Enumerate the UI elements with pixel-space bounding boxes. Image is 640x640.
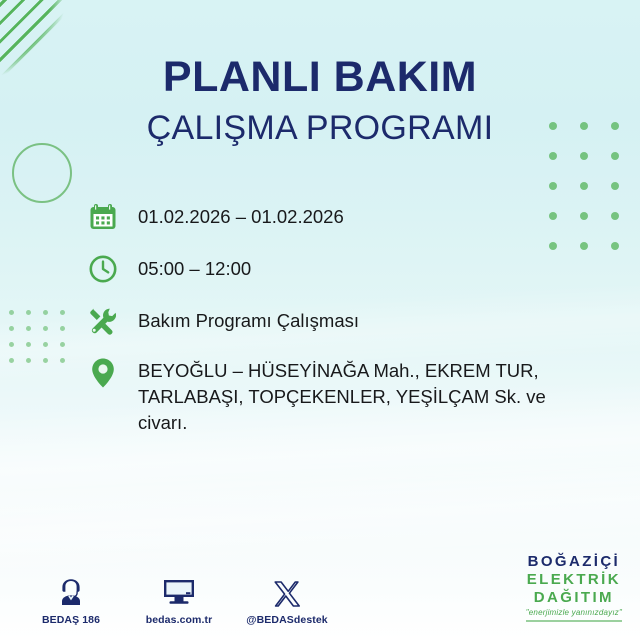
- contact-channels: BEDAŞ 186 bedas.com.tr: [28, 572, 330, 626]
- contact-phone[interactable]: BEDAŞ 186: [28, 572, 114, 626]
- maintenance-details-list: 01.02.2026 – 01.02.2026 05:00 – 12:00: [86, 200, 556, 436]
- brand-logo: BOĞAZİÇİ ELEKTRİK DAĞITIM "enerjimizle y…: [526, 554, 622, 622]
- date-range-value: 01.02.2026 – 01.02.2026: [138, 200, 344, 230]
- work-type-value: Bakım Programı Çalışması: [138, 304, 359, 334]
- contact-phone-label: BEDAŞ 186: [28, 614, 114, 626]
- location-pin-icon: [86, 356, 120, 390]
- brand-underline: [526, 620, 622, 622]
- support-headset-icon: [28, 572, 114, 608]
- title-primary: PLANLI BAKIM: [0, 56, 640, 99]
- page-title: PLANLI BAKIM ÇALIŞMA PROGRAMI: [0, 56, 640, 145]
- brand-line-2: ELEKTRİK: [526, 572, 622, 587]
- brand-tagline: "enerjimizle yanınızdayız": [526, 609, 622, 617]
- affected-area-value: BEYOĞLU – HÜSEYİNAĞA Mah., EKREM TUR, TA…: [138, 356, 556, 436]
- footer: BEDAŞ 186 bedas.com.tr: [0, 550, 640, 640]
- detail-row-location: BEYOĞLU – HÜSEYİNAĞA Mah., EKREM TUR, TA…: [86, 356, 556, 436]
- contact-x-account[interactable]: @BEDASdestek: [244, 572, 330, 626]
- brand-line-1: BOĞAZİÇİ: [526, 554, 622, 569]
- planned-maintenance-poster: PLANLI BAKIM ÇALIŞMA PROGRAMI: [0, 0, 640, 640]
- monitor-icon: [136, 572, 222, 608]
- detail-row-time: 05:00 – 12:00: [86, 252, 556, 286]
- clock-icon: [86, 252, 120, 286]
- dot-grid-left-decoration: [9, 310, 77, 374]
- time-range-value: 05:00 – 12:00: [138, 252, 251, 282]
- calendar-icon: [86, 200, 120, 234]
- contact-x-label: @BEDASdestek: [244, 614, 330, 626]
- contact-website[interactable]: bedas.com.tr: [136, 572, 222, 626]
- tools-icon: [86, 304, 120, 338]
- circle-outline-decoration: [12, 143, 72, 203]
- detail-row-work-type: Bakım Programı Çalışması: [86, 304, 556, 338]
- brand-line-3: DAĞITIM: [526, 590, 622, 605]
- title-secondary: ÇALIŞMA PROGRAMI: [0, 111, 640, 145]
- contact-website-label: bedas.com.tr: [136, 614, 222, 626]
- x-twitter-icon: [244, 572, 330, 608]
- detail-row-date: 01.02.2026 – 01.02.2026: [86, 200, 556, 234]
